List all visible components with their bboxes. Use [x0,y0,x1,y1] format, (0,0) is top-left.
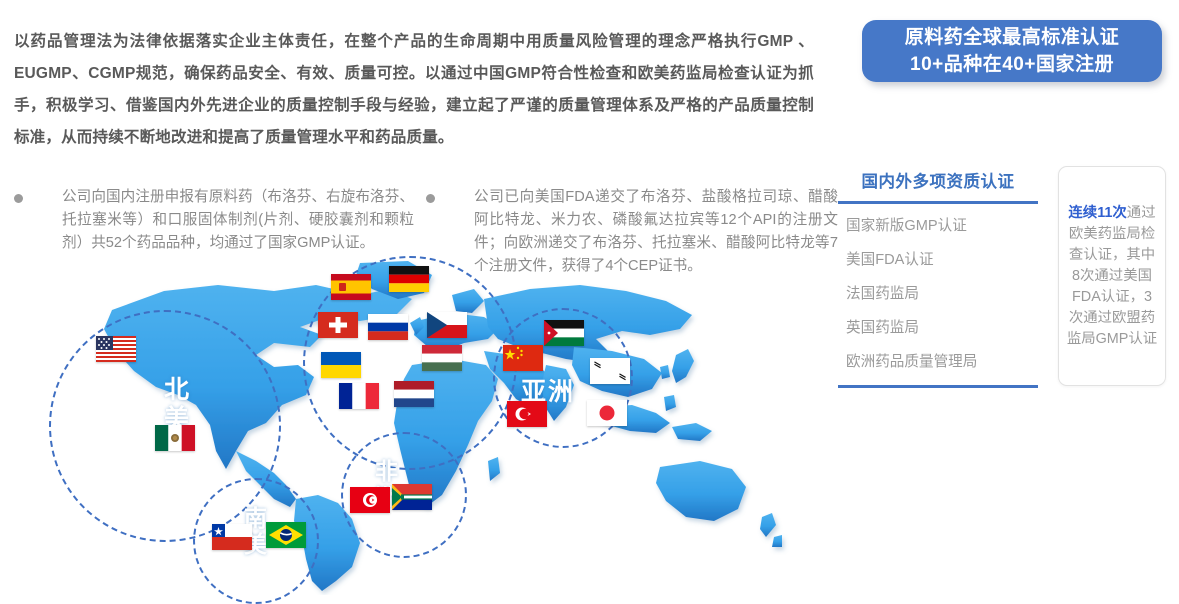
flag-china-icon [503,345,543,371]
bullet-dot-icon [426,194,435,203]
flag-japan-icon [587,400,627,426]
flag-turkey-icon [507,401,547,427]
inspection-streak-card: 连续11次通过欧美药监局检查认证，其中8次通过美国FDA认证，3次通过欧盟药监局… [1058,166,1166,386]
headline-banner-line1: 原料药全球最高标准认证 [905,24,1120,51]
flag-netherlands-icon [394,381,434,407]
flag-brazil-icon [266,522,306,548]
flag-usa-icon [96,336,136,362]
certification-rule-bottom [838,385,1038,388]
headline-banner: 原料药全球最高标准认证 10+品种在40+国家注册 [862,20,1162,82]
flag-russia-icon [368,314,408,340]
inspection-streak-highlight: 连续11次 [1068,205,1126,221]
list-item: 美国FDA认证 [846,250,1038,271]
certification-list: 国家新版GMP认证 美国FDA认证 法国药监局 英国药监局 欧洲药品质量管理局 [838,204,1038,373]
flag-germany-icon [389,266,429,292]
bullet-item-domestic: 公司向国内注册申报有原料药（布洛芬、右旋布洛芬、托拉塞米等）和口服固体制剂(片剂… [14,186,414,255]
flag-france-icon [339,383,379,409]
flag-ukraine-icon [321,352,361,378]
intro-paragraph: 以药品管理法为法律依据落实企业主体责任，在整个产品的生命周期中用质量风险管理的理… [14,26,814,154]
flag-south-africa-icon [392,484,432,510]
certification-panel: 国内外多项资质认证 国家新版GMP认证 美国FDA认证 法国药监局 英国药监局 … [838,168,1038,386]
certification-panel-title: 国内外多项资质认证 [838,168,1038,201]
bullet-dot-icon [14,194,23,203]
headline-banner-line2: 10+品种在40+国家注册 [910,51,1114,78]
bullet-text-domestic: 公司向国内注册申报有原料药（布洛芬、右旋布洛芬、托拉塞米等）和口服固体制剂(片剂… [62,186,414,255]
flag-hungary-icon [422,345,462,371]
slide-canvas: 以药品管理法为法律依据落实企业主体责任，在整个产品的生命周期中用质量风险管理的理… [0,0,1179,597]
inspection-streak-rest: 通过欧美药监局检查认证，其中8次通过美国FDA认证，3次通过欧盟药监局GMP认证 [1067,205,1157,347]
flag-chile-icon [212,524,252,550]
list-item: 欧洲药品质量管理局 [846,352,1038,373]
list-item: 英国药监局 [846,318,1038,339]
inspection-streak-text: 连续11次通过欧美药监局检查认证，其中8次通过美国FDA认证，3次通过欧盟药监局… [1065,203,1159,350]
list-item: 法国药监局 [846,284,1038,305]
flag-south-korea-icon [590,358,630,384]
flag-tunisia-icon [350,487,390,513]
list-item: 国家新版GMP认证 [846,216,1038,237]
flag-jordan-icon [544,320,584,346]
flag-switzerland-icon [318,312,358,338]
flag-mexico-icon [155,425,195,451]
flag-spain-icon [331,274,371,300]
flag-czech-icon [427,312,467,338]
